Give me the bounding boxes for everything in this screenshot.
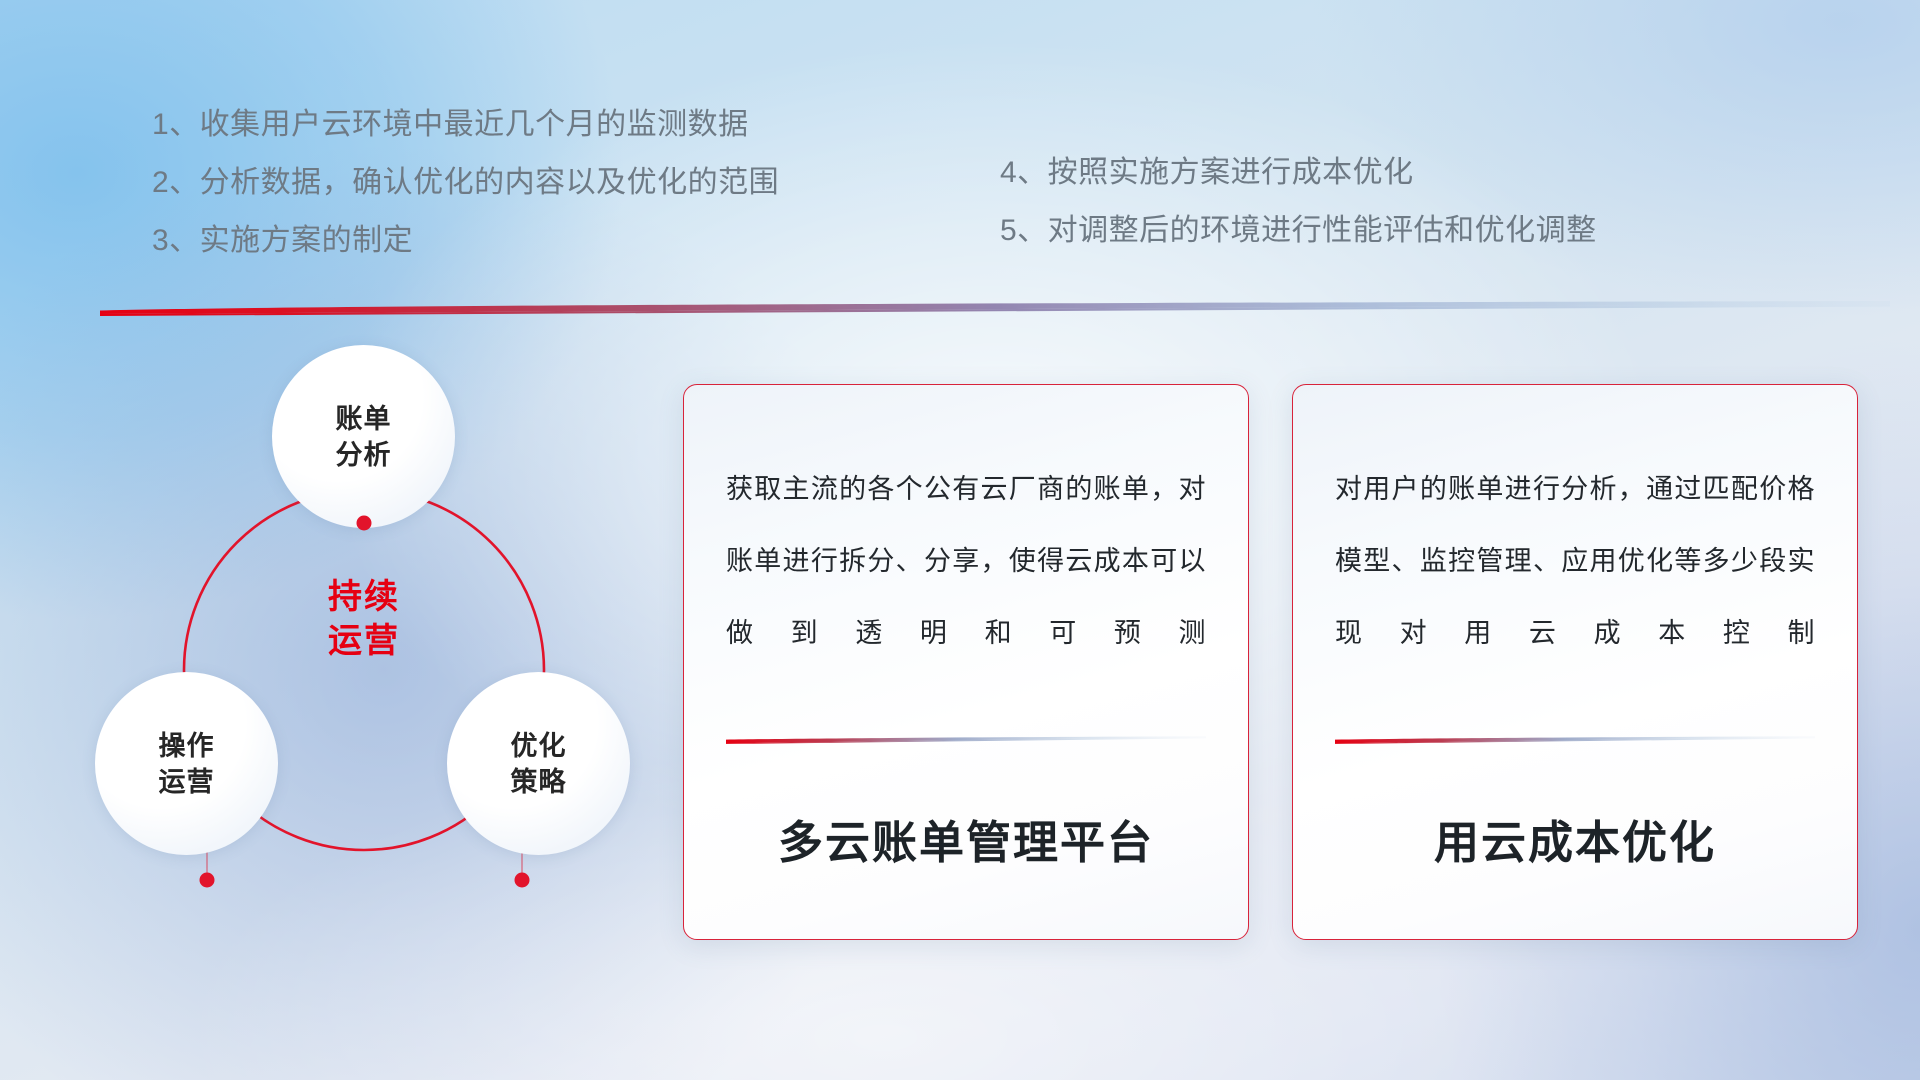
- step-item-3: 3、实施方案的制定: [152, 212, 779, 270]
- card-description: 对用户的账单进行分析，通过匹配价格模型、监控管理、应用优化等多少段实现对用云成本…: [1335, 453, 1815, 711]
- diagram-node-label: 账单 分析: [336, 401, 392, 473]
- diagram-node-label: 操作 运营: [159, 728, 215, 800]
- steps-column-left: 1、收集用户云环境中最近几个月的监测数据 2、分析数据，确认优化的内容以及优化的…: [152, 96, 779, 270]
- card-divider: [1335, 731, 1815, 740]
- step-item-5: 5、对调整后的环境进行性能评估和优化调整: [1000, 202, 1597, 260]
- card-divider: [726, 731, 1206, 740]
- feature-card-cloud-cost-optimization[interactable]: 对用户的账单进行分析，通过匹配价格模型、监控管理、应用优化等多少段实现对用云成本…: [1292, 384, 1858, 940]
- step-item-1: 1、收集用户云环境中最近几个月的监测数据: [152, 96, 779, 154]
- card-divider-shape: [1335, 735, 1815, 744]
- diagram-node-operations[interactable]: 操作 运营: [95, 672, 278, 855]
- diagram-center-label: 持续 运营: [273, 575, 455, 663]
- step-item-4: 4、按照实施方案进行成本优化: [1000, 144, 1597, 202]
- section-divider: [100, 300, 1890, 316]
- steps-column-right: 4、按照实施方案进行成本优化 5、对调整后的环境进行性能评估和优化调整: [1000, 144, 1597, 260]
- continuous-operations-diagram: 账单 分析 操作 运营 优化 策略 持续 运营: [95, 345, 655, 945]
- diagram-node-label: 优化 策略: [511, 728, 567, 800]
- diagram-node-optimization[interactable]: 优化 策略: [447, 672, 630, 855]
- card-title: 多云账单管理平台: [726, 814, 1206, 872]
- step-item-2: 2、分析数据，确认优化的内容以及优化的范围: [152, 154, 779, 212]
- card-title: 用云成本优化: [1335, 814, 1815, 872]
- card-description: 获取主流的各个公有云厂商的账单，对账单进行拆分、分享，使得云成本可以做到透明和可…: [726, 453, 1206, 711]
- diagram-node-billing-analysis[interactable]: 账单 分析: [272, 345, 455, 528]
- divider-shape: [100, 300, 1890, 316]
- card-divider-shape: [726, 735, 1206, 744]
- feature-card-multi-cloud-billing-platform[interactable]: 获取主流的各个公有云厂商的账单，对账单进行拆分、分享，使得云成本可以做到透明和可…: [683, 384, 1249, 940]
